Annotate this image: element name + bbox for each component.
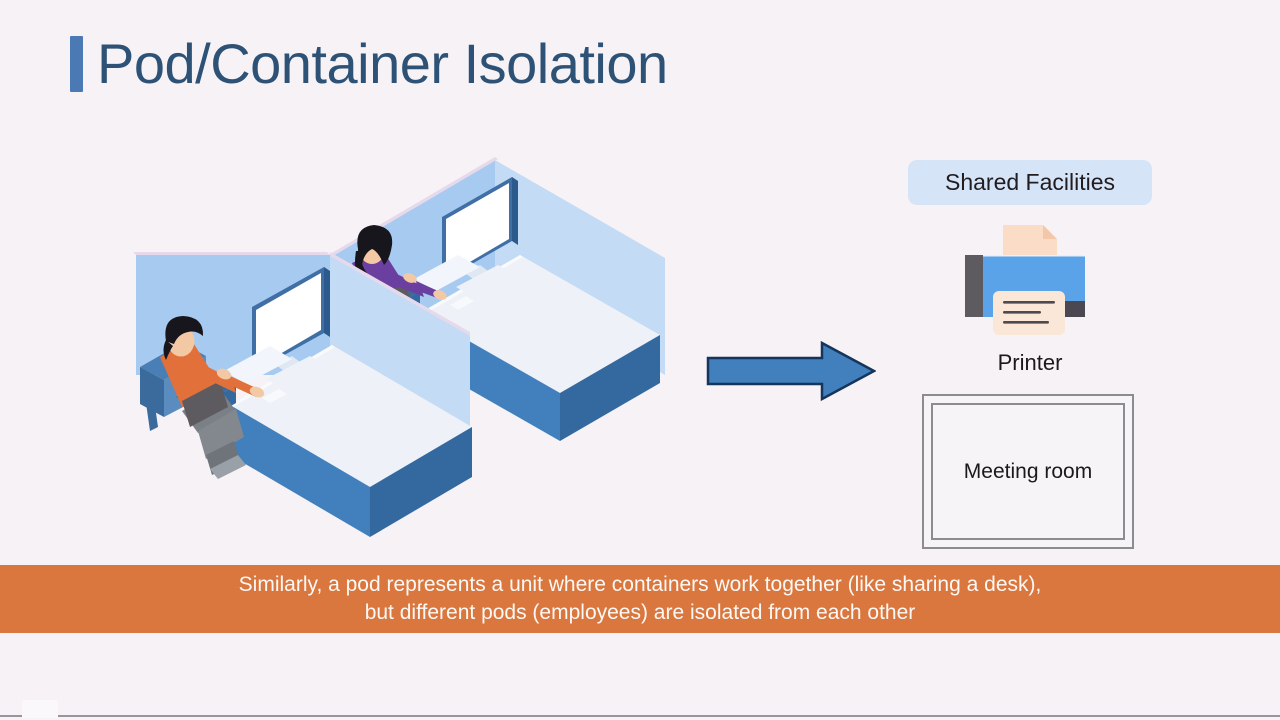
- meeting-room-inner-border: Meeting room: [931, 403, 1125, 540]
- printer-label: Printer: [900, 350, 1160, 376]
- printer-icon: [955, 223, 1105, 341]
- page-title: Pod/Container Isolation: [70, 36, 668, 92]
- office-cubicles-illustration: [120, 145, 680, 545]
- title-text: Pod/Container Isolation: [97, 36, 668, 92]
- shared-facilities-label: Shared Facilities: [945, 169, 1115, 195]
- bottom-divider: [0, 715, 1280, 717]
- flow-arrow-right: [706, 340, 876, 402]
- meeting-room-label: Meeting room: [964, 460, 1092, 484]
- bottom-left-chip: [22, 700, 58, 718]
- slide-canvas: Pod/Container Isolation: [0, 0, 1280, 720]
- shared-facilities-group: Shared Facilities: [900, 160, 1160, 549]
- meeting-room-box: Meeting room: [922, 394, 1134, 549]
- title-accent-bar: [70, 36, 83, 92]
- caption-bar: Similarly, a pod represents a unit where…: [0, 565, 1280, 633]
- printer-block: Printer: [900, 223, 1160, 376]
- caption-text: Similarly, a pod represents a unit where…: [239, 571, 1042, 627]
- shared-facilities-badge: Shared Facilities: [908, 160, 1152, 205]
